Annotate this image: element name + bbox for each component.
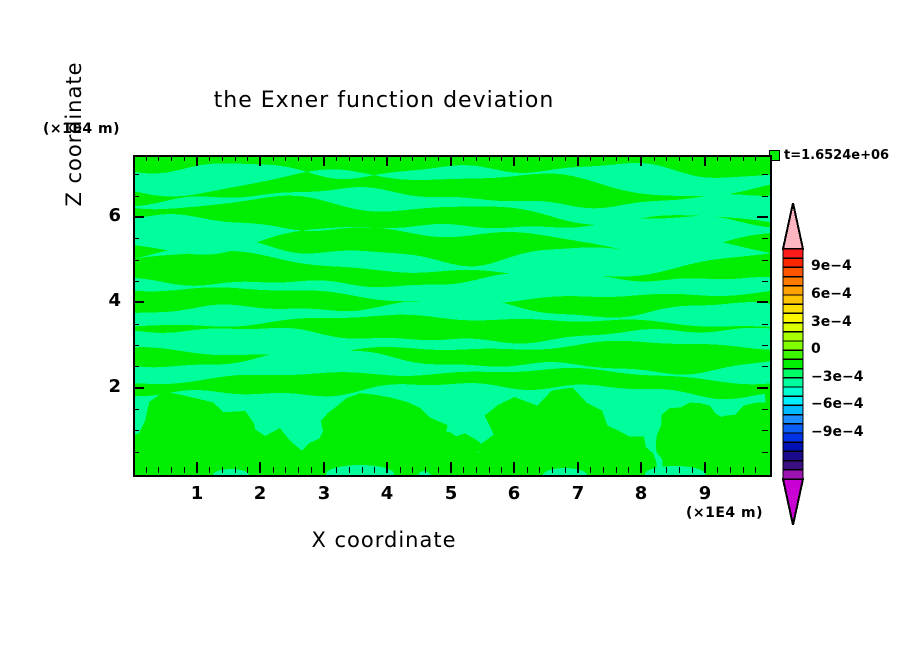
x-minor-tick-bottom (552, 467, 553, 473)
x-minor-tick-top (374, 155, 375, 161)
x-minor-tick-bottom (209, 467, 210, 473)
colorbar-tick-label: −9e−4 (811, 424, 863, 440)
colorbar-band (783, 332, 803, 342)
x-minor-tick-top (755, 155, 756, 161)
x-major-tick-bottom (386, 462, 388, 473)
y-minor-tick-left (133, 452, 139, 453)
x-minor-tick-top (400, 155, 401, 161)
y-minor-tick-right (762, 452, 768, 453)
x-minor-tick-bottom (565, 467, 566, 473)
x-minor-tick-bottom (222, 467, 223, 473)
colorbar-band (783, 396, 803, 406)
y-minor-tick-left (133, 196, 139, 197)
x-major-tick-top (323, 155, 325, 166)
x-minor-tick-top (730, 155, 731, 161)
colorbar-band (783, 359, 803, 369)
x-minor-tick-bottom (412, 467, 413, 473)
y-minor-tick-left (133, 409, 139, 410)
colorbar-band (783, 415, 803, 425)
x-tick-label: 5 (436, 483, 466, 504)
x-minor-tick-top (565, 155, 566, 161)
colorbar-band (783, 442, 803, 452)
colorbar-band (783, 295, 803, 305)
y-major-tick-right (757, 301, 768, 303)
y-axis-title: Z coordinate (62, 24, 88, 244)
x-minor-tick-bottom (527, 467, 528, 473)
x-minor-tick-bottom (717, 467, 718, 473)
x-major-tick-bottom (259, 462, 261, 473)
colorbar-band (783, 378, 803, 388)
x-minor-tick-bottom (476, 467, 477, 473)
x-minor-tick-bottom (171, 467, 172, 473)
x-tick-label: 9 (690, 483, 720, 504)
x-minor-tick-top (743, 155, 744, 161)
y-minor-tick-right (762, 366, 768, 367)
x-minor-tick-bottom (425, 467, 426, 473)
x-minor-tick-top (654, 155, 655, 161)
x-axis-title: X coordinate (0, 528, 768, 552)
x-tick-label: 7 (563, 483, 593, 504)
y-minor-tick-left (133, 430, 139, 431)
colorbar-band (783, 433, 803, 443)
x-minor-tick-bottom (298, 467, 299, 473)
colorbar-band (783, 249, 803, 259)
x-minor-tick-top (666, 155, 667, 161)
timestamp: t=1.6524e+06 (769, 148, 889, 163)
colorbar-band (783, 461, 803, 471)
x-tick-label: 2 (245, 483, 275, 504)
x-minor-tick-bottom (539, 467, 540, 473)
x-minor-tick-bottom (374, 467, 375, 473)
y-major-tick-right (757, 387, 768, 389)
x-minor-tick-top (158, 155, 159, 161)
colorbar-band (783, 341, 803, 351)
x-minor-tick-bottom (654, 467, 655, 473)
x-minor-tick-bottom (336, 467, 337, 473)
colorbar-band (783, 277, 803, 287)
x-minor-tick-top (349, 155, 350, 161)
y-minor-tick-right (762, 409, 768, 410)
y-minor-tick-right (762, 260, 768, 261)
x-major-tick-top (196, 155, 198, 166)
x-major-tick-top (259, 155, 261, 166)
x-minor-tick-bottom (590, 467, 591, 473)
x-minor-tick-bottom (349, 467, 350, 473)
x-major-tick-top (386, 155, 388, 166)
x-minor-tick-bottom (755, 467, 756, 473)
x-minor-tick-bottom (273, 467, 274, 473)
x-minor-tick-top (311, 155, 312, 161)
x-minor-tick-top (603, 155, 604, 161)
x-major-tick-top (640, 155, 642, 166)
y-minor-tick-left (133, 238, 139, 239)
colorbar-over-arrow (783, 203, 803, 249)
x-major-tick-bottom (196, 462, 198, 473)
colorbar-band (783, 387, 803, 397)
x-minor-tick-bottom (285, 467, 286, 473)
x-minor-tick-top (209, 155, 210, 161)
x-minor-tick-bottom (489, 467, 490, 473)
y-minor-tick-right (762, 430, 768, 431)
y-minor-tick-right (762, 324, 768, 325)
x-major-tick-bottom (577, 462, 579, 473)
x-minor-tick-bottom (616, 467, 617, 473)
x-minor-tick-bottom (158, 467, 159, 473)
y-minor-tick-left (133, 260, 139, 261)
y-minor-tick-left (133, 345, 139, 346)
colorbar[interactable] (781, 203, 805, 525)
y-minor-tick-right (762, 345, 768, 346)
colorbar-band (783, 304, 803, 314)
x-minor-tick-top (412, 155, 413, 161)
x-major-tick-top (577, 155, 579, 166)
x-minor-tick-top (489, 155, 490, 161)
x-major-tick-bottom (704, 462, 706, 473)
y-minor-tick-right (762, 174, 768, 175)
x-axis-unit-label: (×1E4 m) (686, 505, 763, 521)
y-minor-tick-right (762, 238, 768, 239)
x-tick-label: 3 (309, 483, 339, 504)
x-minor-tick-top (476, 155, 477, 161)
x-minor-tick-bottom (247, 467, 248, 473)
x-minor-tick-bottom (730, 467, 731, 473)
x-minor-tick-top (235, 155, 236, 161)
x-minor-tick-bottom (311, 467, 312, 473)
x-minor-tick-top (692, 155, 693, 161)
x-minor-tick-top (222, 155, 223, 161)
x-minor-tick-bottom (666, 467, 667, 473)
y-minor-tick-left (133, 366, 139, 367)
colorbar-bands (781, 203, 805, 525)
x-minor-tick-bottom (400, 467, 401, 473)
x-minor-tick-top (285, 155, 286, 161)
x-minor-tick-bottom (628, 467, 629, 473)
x-minor-tick-top (184, 155, 185, 161)
y-minor-tick-right (762, 196, 768, 197)
colorbar-band (783, 267, 803, 277)
x-minor-tick-top (336, 155, 337, 161)
y-tick-label: 6 (91, 205, 121, 226)
y-tick-label: 2 (91, 376, 121, 397)
y-minor-tick-left (133, 281, 139, 282)
x-major-tick-top (513, 155, 515, 166)
x-minor-tick-top (552, 155, 553, 161)
x-major-tick-top (704, 155, 706, 166)
x-minor-tick-top (616, 155, 617, 161)
colorbar-band (783, 405, 803, 415)
colorbar-band (783, 258, 803, 268)
x-minor-tick-bottom (463, 467, 464, 473)
x-minor-tick-top (146, 155, 147, 161)
x-major-tick-bottom (450, 462, 452, 473)
colorbar-band (783, 424, 803, 434)
x-minor-tick-top (679, 155, 680, 161)
colorbar-band (783, 286, 803, 296)
x-minor-tick-top (501, 155, 502, 161)
x-minor-tick-top (590, 155, 591, 161)
y-minor-tick-left (133, 174, 139, 175)
colorbar-band (783, 313, 803, 323)
x-minor-tick-top (438, 155, 439, 161)
y-minor-tick-right (762, 281, 768, 282)
x-minor-tick-bottom (501, 467, 502, 473)
x-minor-tick-bottom (362, 467, 363, 473)
timestamp-label: t=1.6524e+06 (784, 148, 889, 163)
x-minor-tick-top (539, 155, 540, 161)
x-minor-tick-bottom (692, 467, 693, 473)
y-major-tick-left (133, 301, 144, 303)
x-minor-tick-bottom (184, 467, 185, 473)
x-minor-tick-bottom (743, 467, 744, 473)
colorbar-tick-label: 0 (811, 341, 821, 357)
colorbar-under-arrow (783, 479, 803, 525)
x-minor-tick-bottom (235, 467, 236, 473)
x-major-tick-bottom (513, 462, 515, 473)
colorbar-band (783, 470, 803, 480)
x-major-tick-bottom (640, 462, 642, 473)
x-minor-tick-top (298, 155, 299, 161)
x-minor-tick-bottom (438, 467, 439, 473)
x-major-tick-top (450, 155, 452, 166)
x-minor-tick-bottom (679, 467, 680, 473)
colorbar-tick-label: 9e−4 (811, 258, 852, 274)
x-tick-label: 6 (499, 483, 529, 504)
colorbar-band (783, 451, 803, 461)
y-tick-label: 4 (91, 290, 121, 311)
x-minor-tick-top (273, 155, 274, 161)
colorbar-band (783, 323, 803, 333)
x-major-tick-bottom (323, 462, 325, 473)
y-major-tick-left (133, 216, 144, 218)
x-minor-tick-top (527, 155, 528, 161)
x-minor-tick-top (463, 155, 464, 161)
y-minor-tick-left (133, 324, 139, 325)
x-minor-tick-top (628, 155, 629, 161)
y-major-tick-right (757, 216, 768, 218)
x-minor-tick-bottom (603, 467, 604, 473)
y-major-tick-left (133, 387, 144, 389)
page-title: the Exner function deviation (0, 88, 768, 113)
colorbar-tick-label: −3e−4 (811, 369, 863, 385)
contour-field (135, 157, 770, 475)
x-tick-label: 4 (372, 483, 402, 504)
x-minor-tick-top (362, 155, 363, 161)
colorbar-tick-label: −6e−4 (811, 396, 863, 412)
colorbar-tick-label: 3e−4 (811, 314, 852, 330)
x-minor-tick-top (717, 155, 718, 161)
x-tick-label: 8 (626, 483, 656, 504)
colorbar-band (783, 369, 803, 379)
x-minor-tick-top (171, 155, 172, 161)
x-minor-tick-bottom (146, 467, 147, 473)
x-minor-tick-top (425, 155, 426, 161)
colorbar-band (783, 350, 803, 360)
contour-plot-area (133, 155, 772, 477)
x-minor-tick-top (247, 155, 248, 161)
colorbar-tick-label: 6e−4 (811, 286, 852, 302)
x-tick-label: 1 (182, 483, 212, 504)
